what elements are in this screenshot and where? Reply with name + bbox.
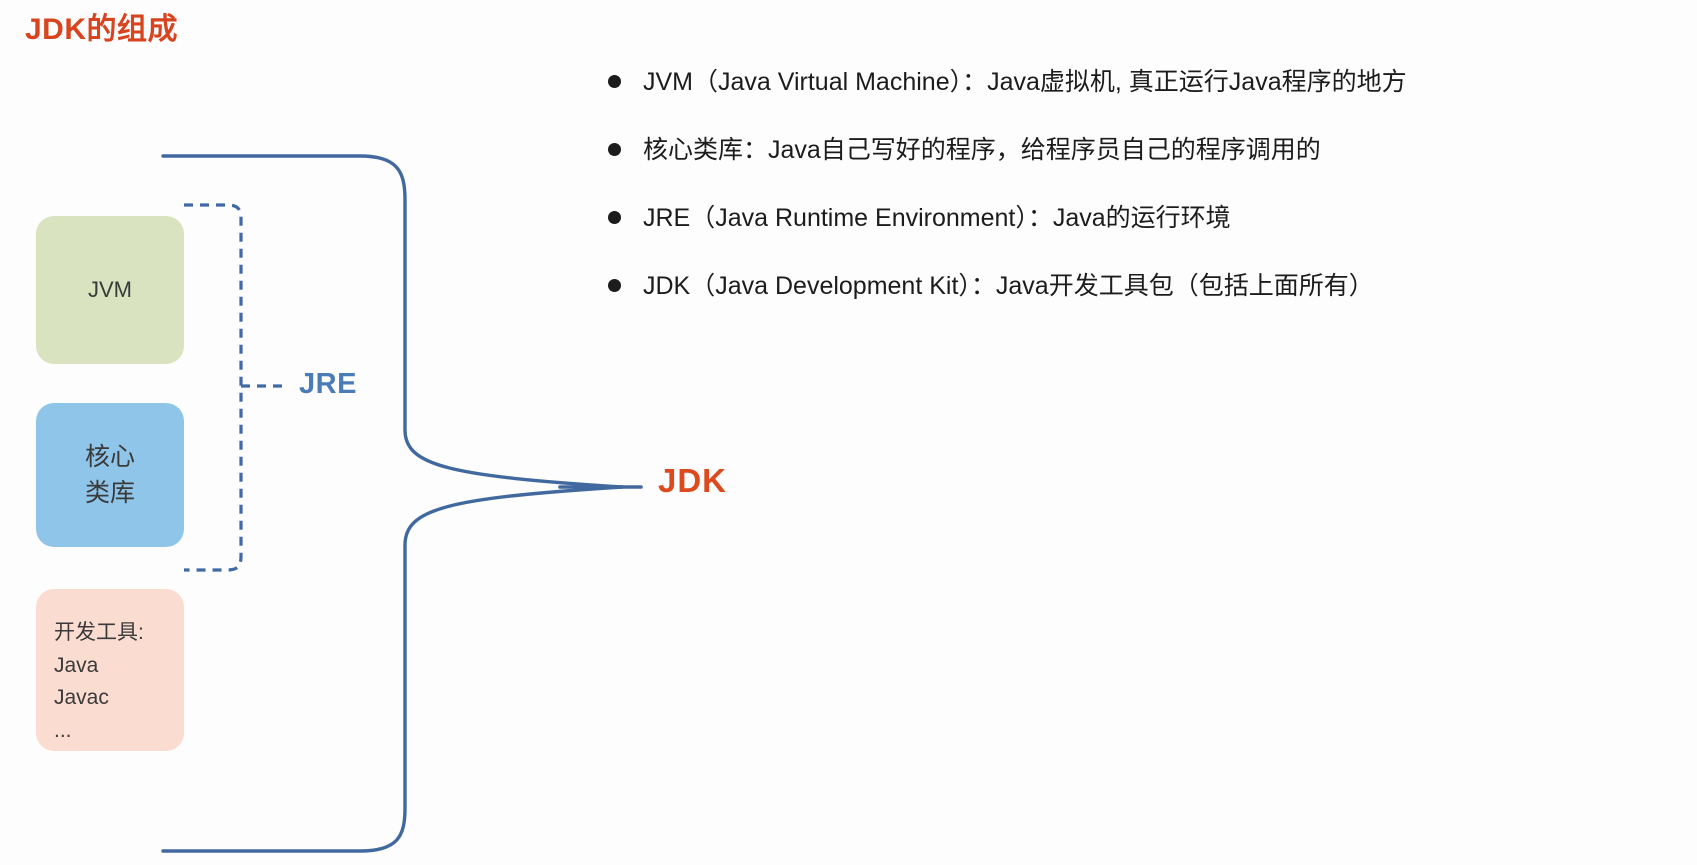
box-dev-tools: 开发工具: Java Javac ... [36, 589, 184, 751]
box-jvm: JVM [36, 216, 184, 364]
label-jre: JRE [299, 368, 357, 401]
bullet-dot-icon [608, 143, 621, 156]
list-item: 核心类库：Java自己写好的程序，给程序员自己的程序调用的 [608, 130, 1688, 172]
page-title: JDK的组成 [25, 4, 178, 48]
bullet-dot-icon [608, 211, 621, 224]
jre-dashed-bracket [184, 205, 241, 570]
bullet-dot-icon [608, 75, 621, 88]
box-dev-tools-line-4: ... [54, 715, 144, 748]
box-dev-tools-line-3: Javac [54, 682, 144, 715]
box-dev-tools-line-1: 开发工具: [54, 617, 144, 650]
box-core-library: 核心 类库 [36, 403, 184, 547]
list-item: JRE（Java Runtime Environment）：Java的运行环境 [608, 198, 1688, 240]
bullet-list: JVM（Java Virtual Machine）：Java虚拟机, 真正运行J… [608, 62, 1688, 334]
box-core-library-line-1: 核心 [85, 439, 135, 475]
bullet-text: JDK（Java Development Kit）：Java开发工具包（包括上面… [643, 266, 1374, 306]
jdk-brace-upper [163, 156, 622, 487]
box-core-library-line-2: 类库 [85, 475, 135, 511]
list-item: JVM（Java Virtual Machine）：Java虚拟机, 真正运行J… [608, 62, 1688, 104]
bullet-text: JRE（Java Runtime Environment）：Java的运行环境 [643, 198, 1231, 238]
box-jvm-label: JVM [88, 275, 132, 305]
bullet-text: 核心类库：Java自己写好的程序，给程序员自己的程序调用的 [643, 130, 1321, 170]
list-item: JDK（Java Development Kit）：Java开发工具包（包括上面… [608, 266, 1688, 308]
bullet-text: JVM（Java Virtual Machine）：Java虚拟机, 真正运行J… [643, 62, 1407, 102]
jdk-brace-lower [163, 487, 622, 851]
bullet-dot-icon [608, 279, 621, 292]
label-jdk: JDK [658, 462, 727, 500]
box-dev-tools-line-2: Java [54, 650, 144, 683]
